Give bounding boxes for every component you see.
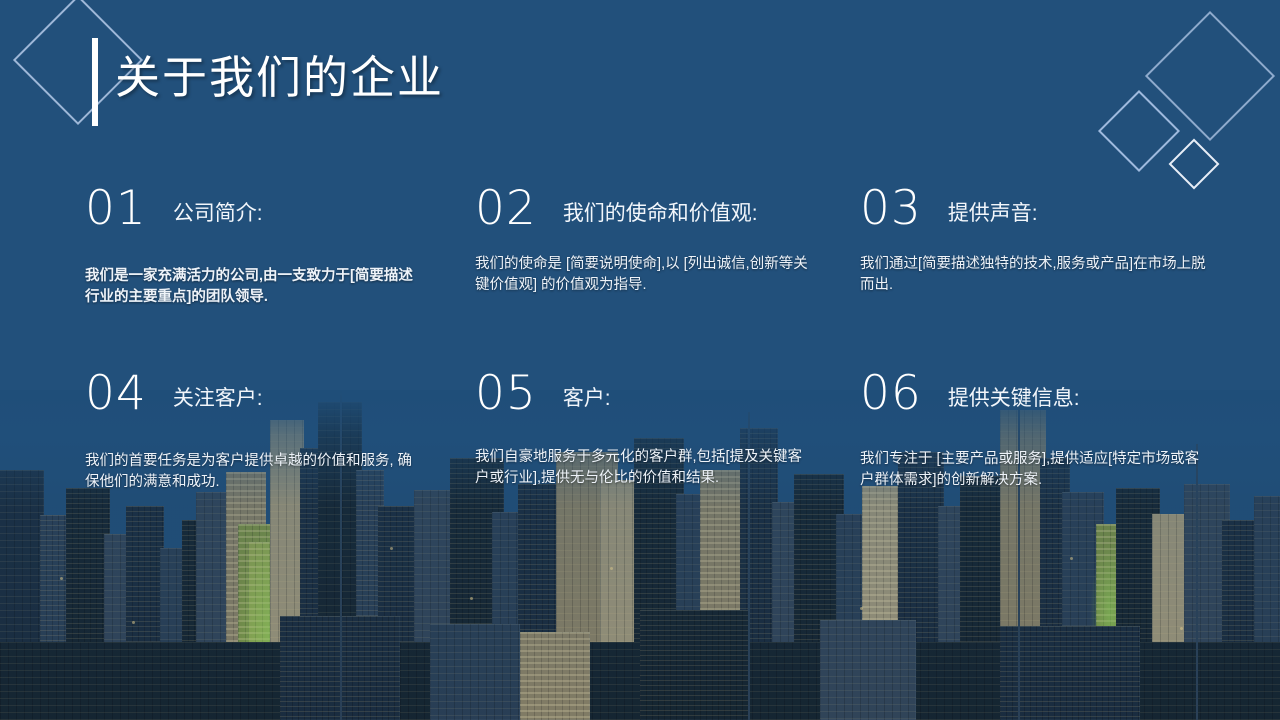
item-number: 01 xyxy=(85,185,147,232)
item-number: 03 xyxy=(860,185,922,232)
item-number: 05 xyxy=(475,370,537,417)
item-body: 我们专注于 [主要产品或服务],提供适应[特定市场或客户群体需求]的创新解决方案… xyxy=(860,449,1208,491)
item-body: 我们的首要任务是为客户提供卓越的价值和服务, 确保他们的满意和成功. xyxy=(85,451,425,493)
item-number: 06 xyxy=(860,370,922,417)
item-header: 01 公司简介: xyxy=(85,185,475,232)
item-subtitle: 我们的使命和价值观: xyxy=(563,201,758,232)
item-body: 我们自豪地服务于多元化的客户群,包括[提及关键客户或行业],提供无与伦比的价值和… xyxy=(475,447,815,489)
content-grid: 01 公司简介: 我们是一家充满活力的公司,由一支致力于[简要描述行业的主要重点… xyxy=(0,185,1280,493)
item-subtitle: 提供声音: xyxy=(948,201,1038,232)
item-header: 03 提供声音: xyxy=(860,185,1260,232)
title-accent-bar xyxy=(92,38,98,126)
content-item-03: 03 提供声音: 我们通过[简要描述独特的技术,服务或产品]在市场上脱 而出. xyxy=(860,185,1260,370)
content-item-02: 02 我们的使命和价值观: 我们的使命是 [简要说明使命],以 [列出诚信,创新… xyxy=(475,185,860,370)
item-body: 我们通过[简要描述独特的技术,服务或产品]在市场上脱 而出. xyxy=(860,254,1208,296)
item-body: 我们的使命是 [简要说明使命],以 [列出诚信,创新等关键价值观] 的价值观为指… xyxy=(475,254,815,296)
content-item-04: 04 关注客户: 我们的首要任务是为客户提供卓越的价值和服务, 确保他们的满意和… xyxy=(85,370,475,493)
diamond-small-icon xyxy=(1169,139,1220,190)
item-subtitle: 提供关键信息: xyxy=(948,386,1080,417)
item-number: 02 xyxy=(475,185,537,232)
page-title: 关于我们的企业 xyxy=(115,48,444,108)
item-subtitle: 客户: xyxy=(563,386,611,417)
item-header: 05 客户: xyxy=(475,370,860,417)
item-number: 04 xyxy=(85,370,147,417)
item-header: 02 我们的使命和价值观: xyxy=(475,185,860,232)
diamond-medium-icon xyxy=(1098,90,1180,172)
content-item-06: 06 提供关键信息: 我们专注于 [主要产品或服务],提供适应[特定市场或客户群… xyxy=(860,370,1260,493)
content-item-05: 05 客户: 我们自豪地服务于多元化的客户群,包括[提及关键客户或行业],提供无… xyxy=(475,370,860,493)
item-subtitle: 公司简介: xyxy=(173,201,263,232)
item-header: 04 关注客户: xyxy=(85,370,475,417)
item-body: 我们是一家充满活力的公司,由一支致力于[简要描述行业的主要重点]的团队领导. xyxy=(85,266,425,308)
item-subtitle: 关注客户: xyxy=(173,386,263,417)
slide-canvas: 关于我们的企业 01 公司简介: 我们是一家充满活力的公司,由一支致力于[简要描… xyxy=(0,0,1280,720)
content-item-01: 01 公司简介: 我们是一家充满活力的公司,由一支致力于[简要描述行业的主要重点… xyxy=(85,185,475,370)
item-header: 06 提供关键信息: xyxy=(860,370,1260,417)
